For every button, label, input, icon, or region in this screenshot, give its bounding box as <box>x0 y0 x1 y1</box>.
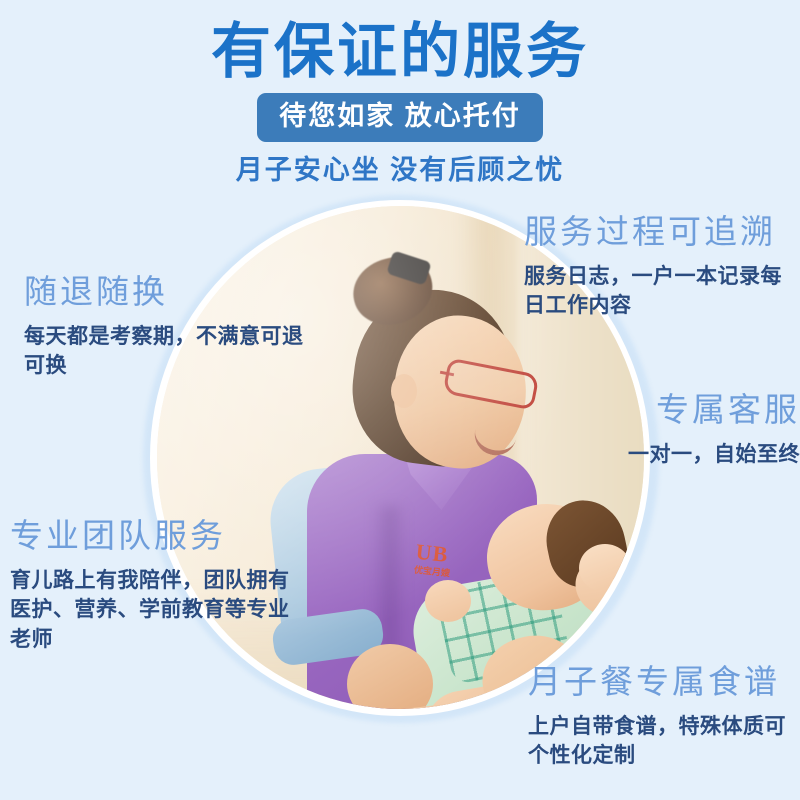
uniform-logo: UB优宝月嫂 <box>413 541 480 583</box>
baby-fist <box>579 544 631 592</box>
feature-heading: 专业团队服务 <box>10 516 310 556</box>
feature-heading: 专属客服 <box>600 390 800 430</box>
feature-body: 服务日志，一户一本记录每日工作内容 <box>524 262 800 322</box>
feature-body: 每天都是考察期，不满意可退可换 <box>24 322 324 382</box>
baby-hand <box>425 580 471 622</box>
page-title: 有保证的服务 <box>0 0 800 85</box>
feature-traceable-service: 服务过程可追溯 服务日志，一户一本记录每日工作内容 <box>524 212 800 321</box>
caregiver-ear <box>391 374 417 408</box>
feature-dedicated-support: 专属客服 一对一，自始至终 <box>600 390 800 469</box>
feature-professional-team: 专业团队服务 育儿路上有我陪伴，团队拥有医护、营养、学前教育等专业老师 <box>10 516 310 655</box>
feature-heading: 服务过程可追溯 <box>524 212 800 252</box>
feature-return-exchange: 随退随换 每天都是考察期，不满意可退可换 <box>24 272 324 381</box>
feature-body: 上户自带食谱，特殊体质可个性化定制 <box>528 712 800 772</box>
feature-body: 一对一，自始至终 <box>600 440 800 470</box>
feature-heading: 随退随换 <box>24 272 324 312</box>
feature-heading: 月子餐专属食谱 <box>528 662 800 702</box>
page-subtitle: 月子安心坐 没有后顾之忧 <box>0 154 800 186</box>
tagline-badge: 待您如家 放心托付 <box>257 93 543 142</box>
promo-poster: 有保证的服务 待您如家 放心托付 月子安心坐 没有后顾之忧 UB优宝月嫂 <box>0 0 800 800</box>
tagline-badge-wrapper: 待您如家 放心托付 <box>0 93 800 142</box>
poster-header: 有保证的服务 待您如家 放心托付 月子安心坐 没有后顾之忧 <box>0 0 800 187</box>
feature-body: 育儿路上有我陪伴，团队拥有医护、营养、学前教育等专业老师 <box>10 566 310 655</box>
feature-postpartum-menu: 月子餐专属食谱 上户自带食谱，特殊体质可个性化定制 <box>528 662 800 771</box>
